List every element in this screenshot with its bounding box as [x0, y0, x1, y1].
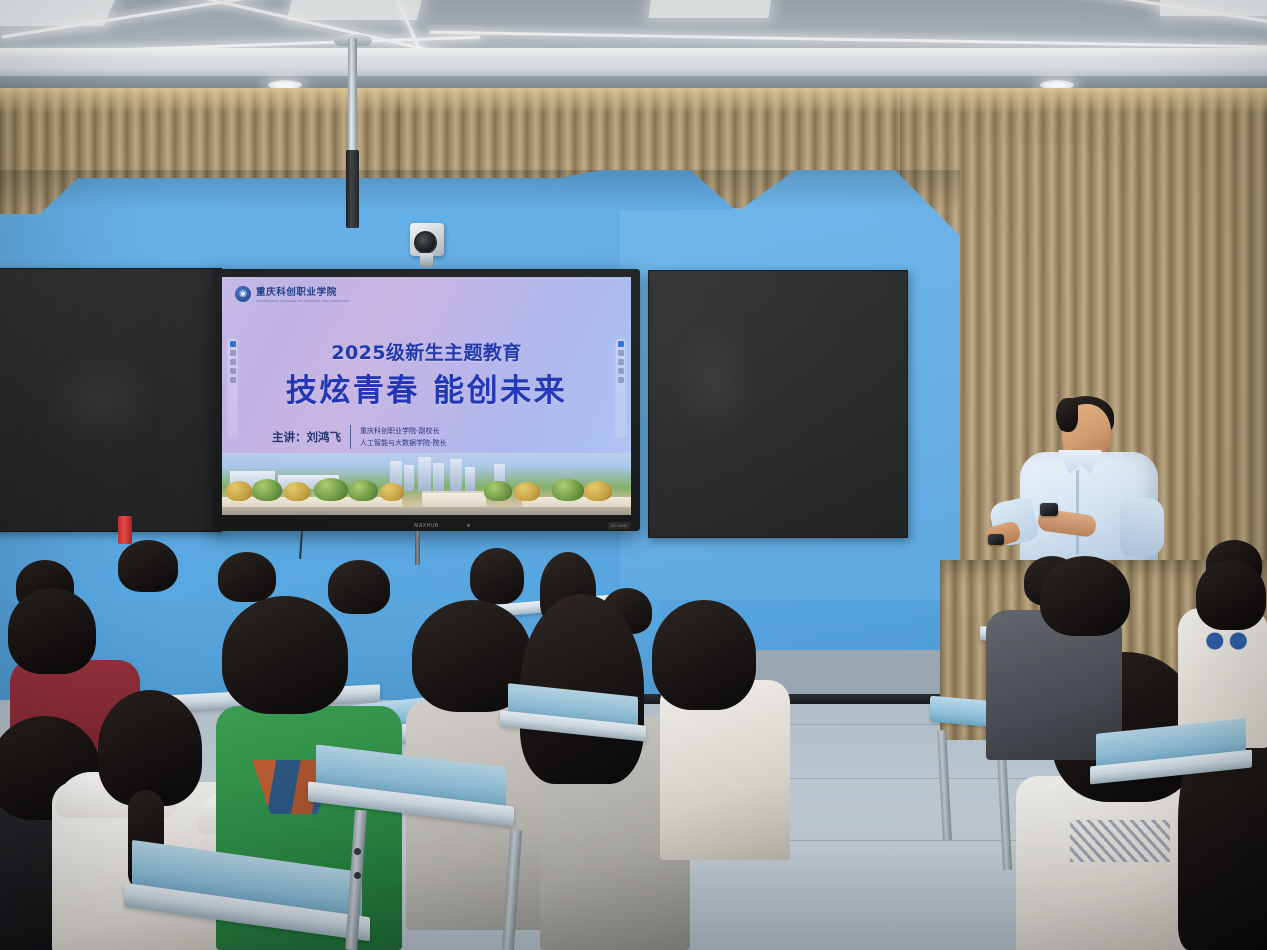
blackboard-left	[0, 268, 222, 532]
student-head	[1040, 556, 1130, 636]
campus-tree	[252, 479, 282, 501]
campus-tower	[418, 457, 431, 491]
slide-speaker-block: 主讲：刘鸿飞 重庆科创职业学院-副校长 人工智能与大数据学院-院长	[272, 425, 447, 449]
camera-mount	[420, 253, 433, 267]
logo-text-cn: 重庆科创职业学院	[256, 284, 349, 298]
undo-icon[interactable]	[230, 377, 236, 383]
speaker-divider	[350, 425, 351, 449]
shape-icon[interactable]	[230, 359, 236, 365]
chalk-smudge	[41, 349, 161, 449]
campus-tree	[348, 480, 378, 501]
ceiling	[0, 0, 1267, 100]
presentation-clicker-icon[interactable]	[988, 534, 1004, 545]
desk-leg-hole	[354, 872, 361, 879]
pen-icon[interactable]	[618, 341, 624, 347]
annotation-toolbar-right[interactable]	[616, 339, 625, 437]
student-head	[98, 690, 202, 806]
slide-institution-logo: ◉ 重庆科创职业学院 CHONGQING COLLEGE OF SCIENCE …	[235, 284, 349, 303]
student-head	[222, 596, 348, 714]
ceiling-light-panel	[648, 0, 771, 18]
undo-icon[interactable]	[618, 377, 624, 383]
presenter-hair-side	[1056, 398, 1078, 432]
display-stand	[415, 531, 420, 565]
campus-tree	[380, 483, 404, 501]
blackboard-right	[648, 270, 908, 538]
college-emblem-icon: ◉	[235, 286, 251, 302]
campus-tower	[450, 459, 462, 491]
presentation-clicker-icon[interactable]	[1040, 503, 1058, 516]
speaker-roles: 重庆科创职业学院-副校长 人工智能与大数据学院-院长	[360, 426, 447, 448]
campus-tree	[284, 482, 310, 501]
campus-tower	[465, 467, 475, 491]
logo-text-en: CHONGQING COLLEGE OF SCIENCE AND CREATIO…	[256, 299, 349, 303]
campus-road	[222, 507, 631, 515]
classroom-photo-scene: ◉ 重庆科创职业学院 CHONGQING COLLEGE OF SCIENCE …	[0, 0, 1267, 950]
eraser-icon[interactable]	[618, 350, 624, 356]
presenter-placket	[1076, 470, 1079, 554]
student-head	[218, 552, 276, 602]
pen-icon[interactable]	[230, 341, 236, 347]
campus-tree	[552, 479, 584, 501]
campus-tower	[404, 465, 414, 491]
speaker-role: 重庆科创职业学院-副校长	[360, 426, 447, 436]
camera-lens-icon	[414, 231, 437, 254]
chalk-smudge	[669, 321, 759, 441]
camera-pole-lower	[346, 150, 359, 228]
shape-icon[interactable]	[618, 359, 624, 365]
student-head	[470, 548, 524, 604]
presenter-arm-right	[1120, 498, 1164, 556]
campus-photo-strip	[222, 453, 631, 515]
speaker-role: 人工智能与大数据学院-院长	[360, 438, 447, 448]
campus-tree	[226, 481, 252, 501]
power-led-icon	[467, 524, 470, 527]
campus-tower	[433, 463, 444, 491]
student-head	[1196, 560, 1266, 630]
display-spec-badge: 4K UHD	[608, 522, 630, 529]
student-head	[118, 540, 178, 592]
slide-headline: 技炫青春 能创未来	[222, 365, 631, 410]
campus-tree	[584, 481, 612, 501]
tshirt-print	[1070, 820, 1170, 862]
desk-leg-hole	[354, 848, 361, 855]
select-icon[interactable]	[230, 368, 236, 374]
presentation-slide[interactable]: ◉ 重庆科创职业学院 CHONGQING COLLEGE OF SCIENCE …	[222, 277, 631, 515]
student-head	[652, 600, 756, 710]
annotation-toolbar-left[interactable]	[228, 339, 237, 437]
beverage-can	[118, 516, 132, 544]
campus-tree	[514, 482, 540, 501]
smart-board-display[interactable]: ◉ 重庆科创职业学院 CHONGQING COLLEGE OF SCIENCE …	[213, 269, 640, 531]
student-head	[328, 560, 390, 614]
campus-tree	[484, 481, 512, 501]
eraser-icon[interactable]	[230, 350, 236, 356]
speaker-name: 主讲：刘鸿飞	[272, 429, 341, 445]
select-icon[interactable]	[618, 368, 624, 374]
display-brand-logo: MAXHUB	[414, 523, 438, 529]
slide-subtitle: 2025级新生主题教育	[222, 338, 631, 365]
student-head	[8, 588, 96, 674]
campus-tree	[314, 478, 348, 501]
